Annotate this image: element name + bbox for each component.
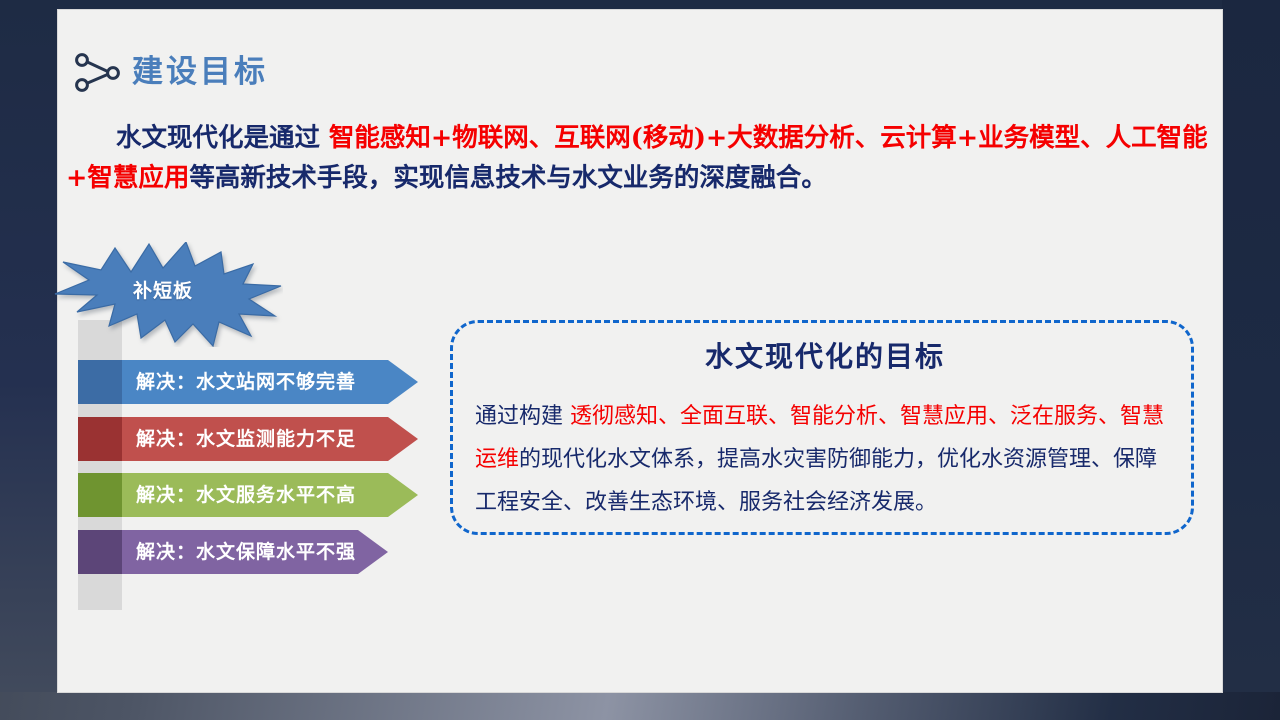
goal-box-body: 通过构建 透彻感知、全面互联、智能分析、智慧应用、泛在服务、智慧运维的现代化水文… (475, 395, 1175, 524)
lead-segment-plain-1: 水文现代化是通过 (116, 123, 329, 153)
arrow-label: 解决：水文站网不够完善 (136, 360, 356, 404)
arrow-cap-block (78, 360, 122, 404)
starburst-badge: 补短板 (53, 242, 283, 347)
arrow-row[interactable]: 解决：水文保障水平不强 (78, 530, 388, 574)
goal-box: 水文现代化的目标 通过构建 透彻感知、全面互联、智能分析、智慧应用、泛在服务、智… (450, 320, 1194, 535)
goal-segment-plain-1: 通过构建 (475, 404, 570, 429)
slide-header: 建设目标 (58, 10, 1222, 106)
frame-top-border (0, 0, 1280, 10)
arrow-cap-block (78, 473, 122, 517)
arrow-row[interactable]: 解决：水文站网不够完善 (78, 360, 418, 404)
arrow-cap-block (78, 417, 122, 461)
slide-page: 建设目标 水文现代化是通过 智能感知+物联网、互联网(移动)+大数据分析、云计算… (58, 10, 1222, 692)
arrow-row[interactable]: 解决：水文服务水平不高 (78, 473, 418, 517)
frame-left-border (0, 0, 58, 692)
lead-segment-plain-2: 等高新技术手段，实现信息技术与水文业务的深度融合。 (189, 163, 827, 193)
goal-segment-plain-2: 的现代化水文体系，提高水灾害防御能力，优化水资源管理、保障工程安全、改善生态环境… (475, 447, 1157, 515)
lead-paragraph: 水文现代化是通过 智能感知+物联网、互联网(移动)+大数据分析、云计算+业务模型… (66, 118, 1216, 198)
arrow-row[interactable]: 解决：水文监测能力不足 (78, 417, 418, 461)
frame-right-border (1222, 0, 1280, 692)
share-node-icon (70, 48, 126, 96)
arrow-label: 解决：水文监测能力不足 (136, 417, 356, 461)
slide-root: 建设目标 水文现代化是通过 智能感知+物联网、互联网(移动)+大数据分析、云计算… (0, 0, 1280, 720)
page-title: 建设目标 (132, 46, 268, 91)
goal-box-title: 水文现代化的目标 (453, 335, 1197, 375)
starburst-shape (53, 242, 283, 347)
arrow-label: 解决：水文服务水平不高 (136, 473, 356, 517)
arrow-label: 解决：水文保障水平不强 (136, 530, 356, 574)
arrow-cap-block (78, 530, 122, 574)
